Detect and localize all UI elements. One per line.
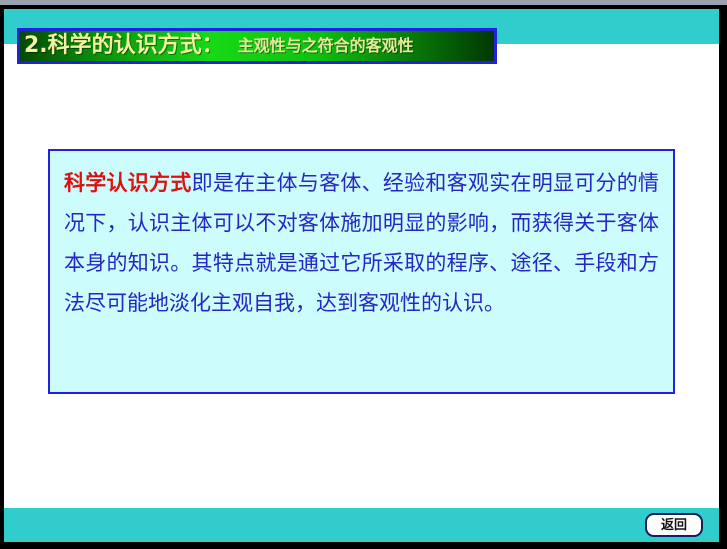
content-highlight-term: 科学认识方式 <box>64 170 192 195</box>
slide-title-plate: 2.科学的认识方式： 主观性与之符合的客观性 <box>17 28 497 64</box>
content-paragraph: 科学认识方式即是在主体与客体、经验和客观实在明显可分的情况下，认识主体可以不对客… <box>64 163 659 323</box>
return-button-label: 返回 <box>661 519 687 532</box>
return-button[interactable]: 返回 <box>645 513 703 537</box>
slide-frame-bottom <box>0 542 727 549</box>
slide-title-subtitle: 主观性与之符合的客观性 <box>224 38 414 54</box>
footer-teal-band <box>4 508 719 542</box>
slide-frame-right <box>719 5 727 549</box>
slide-title-main: 2.科学的认识方式： <box>20 35 224 57</box>
presentation-slide: 2.科学的认识方式： 主观性与之符合的客观性 科学认识方式即是在主体与客体、经验… <box>0 0 727 549</box>
slide-frame-left <box>0 5 4 549</box>
content-text-box: 科学认识方式即是在主体与客体、经验和客观实在明显可分的情况下，认识主体可以不对客… <box>48 149 675 394</box>
